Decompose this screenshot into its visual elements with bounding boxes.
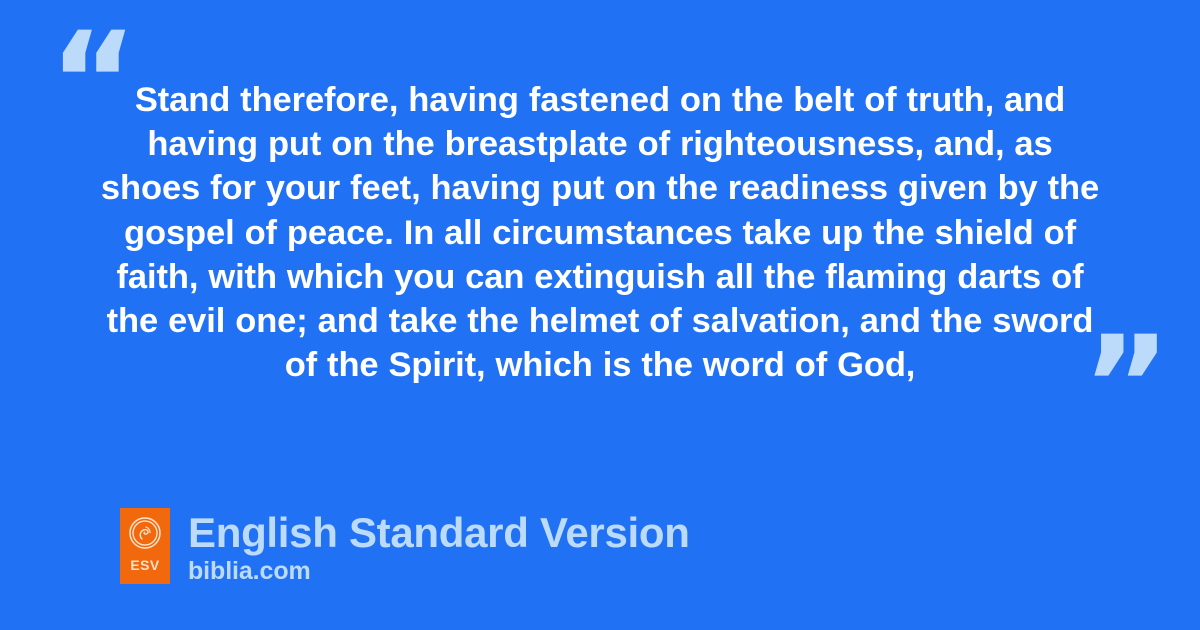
closing-quote-icon: ” [1082, 318, 1171, 453]
site-name-label[interactable]: biblia.com [188, 557, 690, 585]
esv-logo-badge[interactable]: ESV [120, 508, 170, 584]
verse-text: Stand therefore, having fastened on the … [100, 78, 1100, 387]
attribution-text: English Standard Version biblia.com [188, 508, 690, 585]
attribution-footer: ESV English Standard Version biblia.com [120, 508, 690, 585]
verse-quote-card: “ Stand therefore, having fastened on th… [0, 0, 1200, 630]
verse-text-block: Stand therefore, having fastened on the … [100, 78, 1100, 387]
esv-logo-label: ESV [130, 558, 159, 572]
bible-version-title: English Standard Version [188, 510, 690, 556]
esv-seal-icon [129, 517, 161, 549]
